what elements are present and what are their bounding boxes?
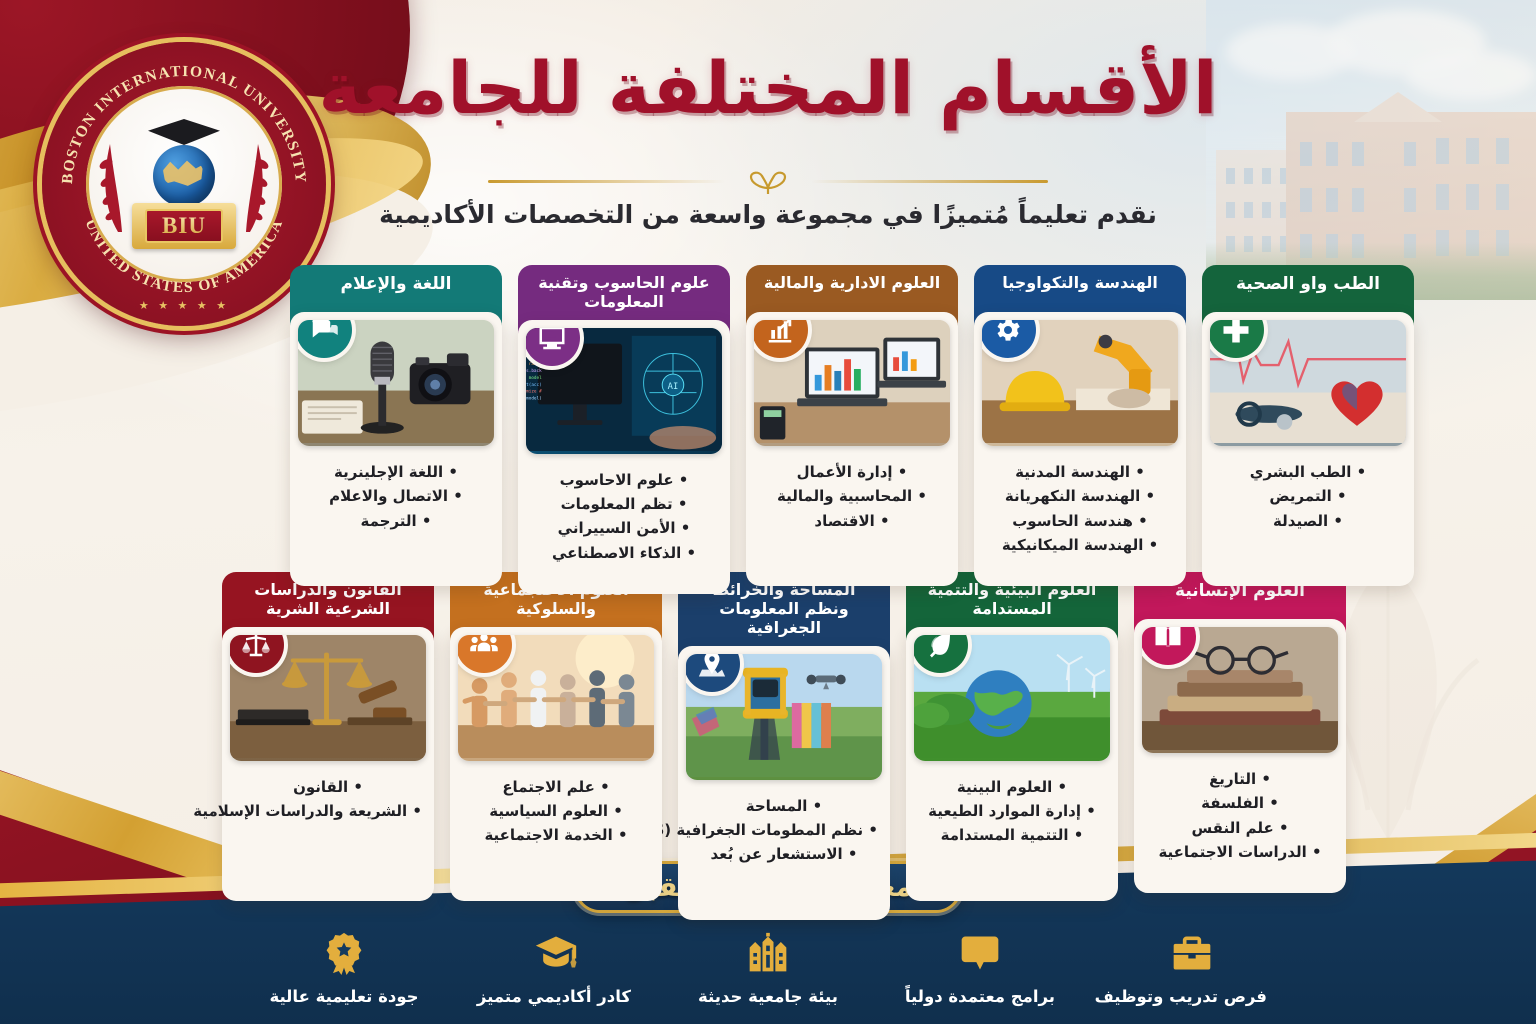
logo-stars: ★ ★ ★ ★ ★ xyxy=(42,299,326,312)
major-item: الصيدلة xyxy=(1214,509,1402,533)
globe-icon xyxy=(153,145,215,207)
majors-list: الهندسة المدنيةالهندسة النكهريانةهندسة ا… xyxy=(986,460,1174,557)
page-subtitle: نقدم تعليماً مُتميزًا في مجموعة واسعة من… xyxy=(0,200,1536,229)
card-body: الطب البشريالتمريضالصيدلة xyxy=(1202,312,1414,586)
department-card[interactable]: اللغة والإعلاماللغة الإجلينريةالاتصال وا… xyxy=(290,265,502,586)
major-item: العلوم البينية xyxy=(918,775,1106,799)
major-item: الشريعة والدراسات الإسلامية xyxy=(234,799,422,823)
footer-feature: فرص تدريب وتوظيف xyxy=(1117,925,1267,1006)
major-item: الفلسفة xyxy=(1146,791,1334,815)
card-thumbnail xyxy=(458,635,654,761)
major-item: علوم الاحاسوب xyxy=(530,468,718,492)
major-item: الاتصال والاعلام xyxy=(302,484,490,508)
major-item: الهندسة المدنية xyxy=(986,460,1174,484)
majors-list: علوم الاحاسوبتظم المعلوماتالأمن السييران… xyxy=(530,468,718,565)
major-item: نظم المطومات الجغرافية (GIS) xyxy=(690,818,878,842)
major-item: علم الاجتماع xyxy=(462,775,650,799)
campus-building-icon xyxy=(693,925,843,981)
card-body: المساحةنظم المطومات الجغرافية (GIS)الاست… xyxy=(678,646,890,920)
page-title: الأقسام المختلفة للجامعة xyxy=(0,46,1536,130)
major-item: الترجمة xyxy=(302,509,490,533)
department-card[interactable]: القانون والدراسات الشرعية الشريةالقانونا… xyxy=(222,572,434,901)
campus-building-backdrop xyxy=(1206,0,1536,300)
department-card[interactable]: العلوم الاحتجماعية والسلوكيةعلم الاجتماع… xyxy=(450,572,662,901)
major-item: تظم المعلومات xyxy=(530,492,718,516)
major-item: المساحة xyxy=(690,794,878,818)
majors-list: القانونالشريعة والدراسات الإسلامية xyxy=(234,775,422,824)
card-thumbnail xyxy=(686,654,882,780)
footer-feature-label: فرص تدريب وتوظيف xyxy=(1117,987,1267,1006)
footer-feature-label: بيئة جامعية حديثة xyxy=(693,987,843,1006)
majors-list: التاريغالفلسفةعلم النقسالدراسات الاجتماع… xyxy=(1146,767,1334,864)
footer-feature: جودة تعليمية عالية xyxy=(269,925,419,1006)
department-card[interactable]: العلوم البيئية والتتمية المستدامةالعلوم … xyxy=(906,572,1118,901)
department-card[interactable]: الهندسة والتكواوجياالهندسة المدنيةالهندس… xyxy=(974,265,1186,586)
majors-list: اللغة الإجلينريةالاتصال والاعلامالترجمة xyxy=(302,460,490,533)
svg-text:print(acc): print(acc) xyxy=(526,382,542,388)
majors-list: إدارة الأعمالالمحاسبية والماليةالاقتصاد xyxy=(758,460,946,533)
footer-feature: كادر أكاديمي متميز xyxy=(481,925,631,1006)
card-thumbnail xyxy=(754,320,950,446)
title-divider xyxy=(488,168,1048,194)
major-item: الاستشعار عن بُعد xyxy=(690,842,878,866)
footer-features: فرص تدريب وتوظيفبرامج معتمدة دولياًبيئة … xyxy=(0,896,1536,1006)
major-item: إدارة الموارد الطيعية xyxy=(918,799,1106,823)
major-item: العلوم السياسية xyxy=(462,799,650,823)
majors-list: العلوم البينيةإدارة الموارد الطيعيةالتتم… xyxy=(918,775,1106,848)
major-item: علم النقس xyxy=(1146,816,1334,840)
briefcase-icon xyxy=(1117,925,1267,981)
card-thumbnail xyxy=(298,320,494,446)
svg-text:loss.back(): loss.back() xyxy=(526,368,542,374)
department-row-2: العلوم الإنسانيةالتاريغالفلسفةعلم النقسا… xyxy=(222,572,1346,920)
card-body: التاريغالفلسفةعلم النقسالدراسات الاجتماع… xyxy=(1134,619,1346,893)
major-item: الهندسة الميكانيكية xyxy=(986,533,1174,557)
department-card[interactable]: العلوم الإنسانيةالتاريغالفلسفةعلم النقسا… xyxy=(1134,572,1346,893)
majors-list: المساحةنظم المطومات الجغرافية (GIS)الاست… xyxy=(690,794,878,867)
major-item: المحاسبية والمالية xyxy=(758,484,946,508)
major-item: الهندسة النكهريانة xyxy=(986,484,1174,508)
graduation-cap-icon xyxy=(481,925,631,981)
card-body: اللغة الإجلينريةالاتصال والاعلامالترجمة xyxy=(290,312,502,586)
footer-feature: بيئة جامعية حديثة xyxy=(693,925,843,1006)
certificate-icon xyxy=(905,925,1055,981)
card-body: علم الاجتماعالعلوم السياسيةالخدمة الاجتم… xyxy=(450,627,662,901)
footer-feature: برامج معتمدة دولياً xyxy=(905,925,1055,1006)
svg-text:return model: return model xyxy=(526,375,542,381)
card-thumbnail: AIdef train(x): model = Net() for e in r… xyxy=(526,328,722,454)
gold-flourish-divider-icon xyxy=(731,168,805,194)
major-item: الدراسات الاجتماعية xyxy=(1146,840,1334,864)
footer-feature-label: برامج معتمدة دولياً xyxy=(905,987,1055,1006)
card-body: إدارة الأعمالالمحاسبية والماليةالاقتصاد xyxy=(746,312,958,586)
major-item: الطب البشري xyxy=(1214,460,1402,484)
card-body: الهندسة المدنيةالهندسة النكهريانةهندسة ا… xyxy=(974,312,1186,586)
major-item: القانون xyxy=(234,775,422,799)
major-item: التمريض xyxy=(1214,484,1402,508)
card-thumbnail xyxy=(230,635,426,761)
card-body: العلوم البينيةإدارة الموارد الطيعيةالتتم… xyxy=(906,627,1118,901)
department-card[interactable]: الطب واو الصحيةالطب البشريالتمريضالصيدلة xyxy=(1202,265,1414,586)
major-item: هندسة الحاسوب xyxy=(986,509,1174,533)
card-thumbnail xyxy=(982,320,1178,446)
majors-list: الطب البشريالتمريضالصيدلة xyxy=(1214,460,1402,533)
department-card[interactable]: علوم الحاسوب وتقنية المعلوماتAIdef train… xyxy=(518,265,730,594)
footer-feature-label: جودة تعليمية عالية xyxy=(269,987,419,1006)
poster-canvas: BOSTON INTERNATIONAL UNIVERSITY UNITED S… xyxy=(0,0,1536,1024)
card-thumbnail xyxy=(1142,627,1338,753)
department-row-1: الطب واو الصحيةالطب البشريالتمريضالصيدلة… xyxy=(290,265,1414,594)
card-body: AIdef train(x): model = Net() for e in r… xyxy=(518,320,730,594)
major-item: إدارة الأعمال xyxy=(758,460,946,484)
svg-text:# optimize: # optimize xyxy=(526,388,542,394)
award-ribbon-icon xyxy=(269,925,419,981)
major-item: الأمن السييراني xyxy=(530,516,718,540)
svg-text:save(model): save(model) xyxy=(526,395,542,401)
svg-text:AI: AI xyxy=(668,382,679,392)
card-thumbnail xyxy=(914,635,1110,761)
footer-feature-label: كادر أكاديمي متميز xyxy=(481,987,631,1006)
major-item: التتمية المستدامة xyxy=(918,823,1106,847)
department-card[interactable]: المساحة والخرائط ونظم المعلومات الجغرافي… xyxy=(678,572,890,920)
card-thumbnail xyxy=(1210,320,1406,446)
major-item: اللغة الإجلينرية xyxy=(302,460,490,484)
major-item: الذكاء الاصطناعي xyxy=(530,541,718,565)
major-item: الخدمة الاجتماعية xyxy=(462,823,650,847)
major-item: الاقتصاد xyxy=(758,509,946,533)
majors-list: علم الاجتماعالعلوم السياسيةالخدمة الاجتم… xyxy=(462,775,650,848)
department-card[interactable]: العلوم الادارية والماليةإدارة الأعمالالم… xyxy=(746,265,958,586)
card-body: القانونالشريعة والدراسات الإسلامية xyxy=(222,627,434,901)
major-item: التاريغ xyxy=(1146,767,1334,791)
